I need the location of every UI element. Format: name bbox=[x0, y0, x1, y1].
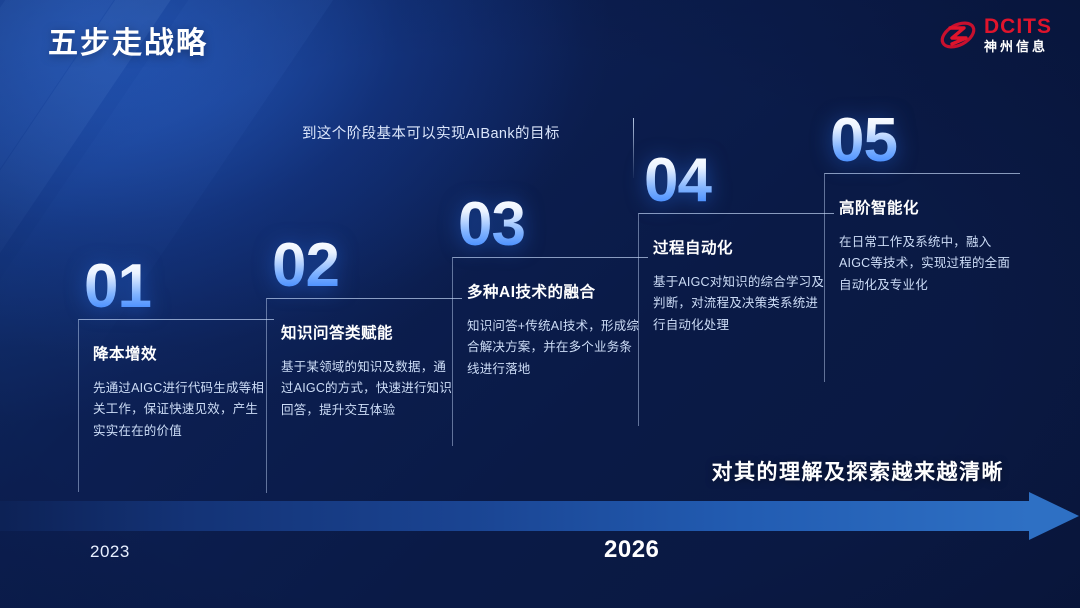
background-streak bbox=[0, 0, 18, 367]
step-card-03[interactable]: 03 多种AI技术的融合 知识问答+传统AI技术，形成综合解决方案，并在多个业务… bbox=[452, 196, 648, 446]
step-number: 02 bbox=[272, 237, 462, 296]
annotation-divider bbox=[633, 118, 634, 178]
page-title: 五步走战略 bbox=[48, 18, 208, 62]
step-body: 先通过AIGC进行代码生成等相关工作，保证快速见效，产生实实在在的价值 bbox=[93, 378, 268, 443]
timeline-arrow bbox=[0, 495, 1080, 537]
step-card-05[interactable]: 05 高阶智能化 在日常工作及系统中，融入AIGC等技术，实现过程的全面自动化及… bbox=[824, 112, 1020, 382]
step-bracket: 降本增效 先通过AIGC进行代码生成等相关工作，保证快速见效，产生实实在在的价值 bbox=[78, 319, 274, 492]
step-bracket: 多种AI技术的融合 知识问答+传统AI技术，形成综合解决方案，并在多个业务条线进… bbox=[452, 257, 648, 446]
step-title: 多种AI技术的融合 bbox=[467, 280, 642, 302]
annotation-text: 到这个阶段基本可以实现AIBank的目标 bbox=[302, 122, 560, 143]
step-body: 在日常工作及系统中，融入AIGC等技术，实现过程的全面自动化及专业化 bbox=[839, 232, 1014, 297]
step-body: 知识问答+传统AI技术，形成综合解决方案，并在多个业务条线进行落地 bbox=[467, 316, 642, 381]
timeline-arrow-head bbox=[1029, 492, 1079, 540]
logo-wordmark: DCITS 神州信息 bbox=[984, 16, 1052, 53]
dcits-swirl-icon bbox=[939, 18, 977, 52]
step-number: 05 bbox=[830, 112, 1020, 171]
step-card-01[interactable]: 01 降本增效 先通过AIGC进行代码生成等相关工作，保证快速见效，产生实实在在… bbox=[78, 258, 274, 492]
timeline-arrow-body bbox=[0, 501, 1032, 531]
step-card-02[interactable]: 02 知识问答类赋能 基于某领域的知识及数据，通过AIGC的方式，快速进行知识回… bbox=[266, 237, 462, 493]
timeline-year-start: 2023 bbox=[90, 542, 130, 562]
logo-name-cn: 神州信息 bbox=[984, 40, 1052, 53]
step-body: 基于AIGC对知识的综合学习及判断，对流程及决策类系统进行自动化处理 bbox=[653, 272, 828, 337]
step-title: 知识问答类赋能 bbox=[281, 321, 456, 343]
step-title: 高阶智能化 bbox=[839, 196, 1014, 218]
step-number: 04 bbox=[644, 152, 834, 211]
step-body: 基于某领域的知识及数据，通过AIGC的方式，快速进行知识回答，提升交互体验 bbox=[281, 357, 456, 422]
step-number: 01 bbox=[84, 258, 274, 317]
tagline-text: 对其的理解及探索越来越清晰 bbox=[712, 456, 1005, 486]
step-card-04[interactable]: 04 过程自动化 基于AIGC对知识的综合学习及判断，对流程及决策类系统进行自动… bbox=[638, 152, 834, 426]
step-number: 03 bbox=[458, 196, 648, 255]
logo-name-en: DCITS bbox=[984, 16, 1052, 37]
timeline-year-end: 2026 bbox=[604, 536, 659, 564]
slide-canvas: 五步走战略 DCITS 神州信息 到这个阶段基本可以实现AIBank的目标 01… bbox=[0, 0, 1080, 608]
step-bracket: 知识问答类赋能 基于某领域的知识及数据，通过AIGC的方式，快速进行知识回答，提… bbox=[266, 298, 462, 493]
step-title: 降本增效 bbox=[93, 342, 268, 364]
brand-logo: DCITS 神州信息 bbox=[939, 16, 1052, 53]
step-title: 过程自动化 bbox=[653, 236, 828, 258]
step-bracket: 过程自动化 基于AIGC对知识的综合学习及判断，对流程及决策类系统进行自动化处理 bbox=[638, 213, 834, 426]
step-bracket: 高阶智能化 在日常工作及系统中，融入AIGC等技术，实现过程的全面自动化及专业化 bbox=[824, 173, 1020, 382]
